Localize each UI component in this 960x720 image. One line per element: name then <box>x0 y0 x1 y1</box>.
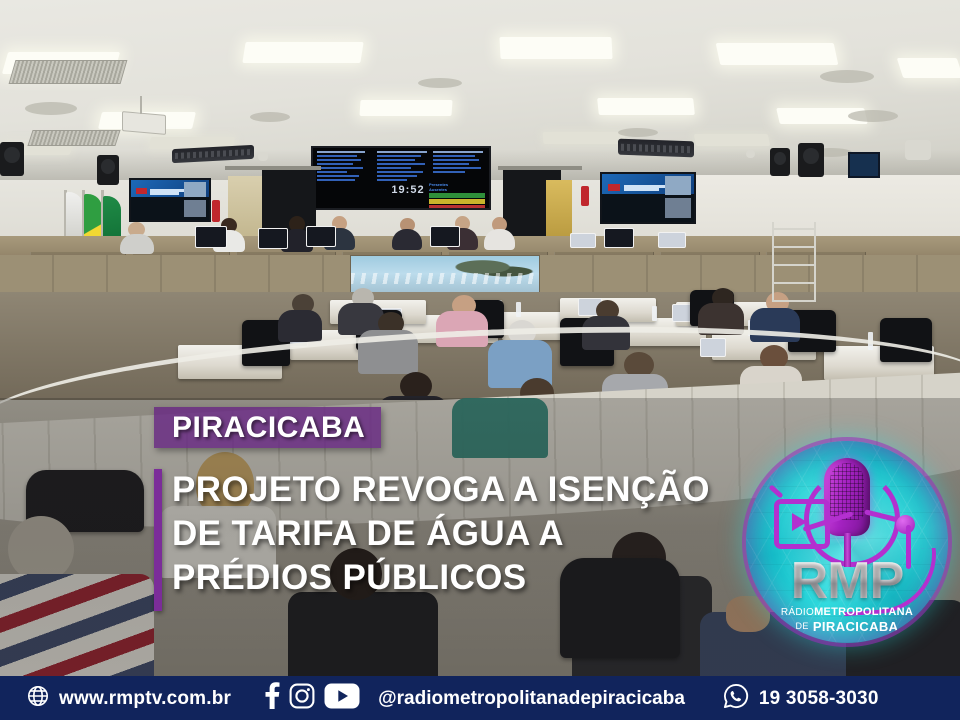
social-icons-group: @radiometropolitanadepiracicaba <box>265 682 685 714</box>
person-body <box>392 229 422 250</box>
desk-monitor <box>195 226 227 248</box>
globe-icon <box>26 684 50 712</box>
door-rail <box>225 166 321 170</box>
security-camera <box>905 140 931 160</box>
whatsapp-icon <box>723 683 749 713</box>
youtube-icon[interactable] <box>324 683 360 714</box>
news-card: 19:52 Presentes Ausentes <box>0 0 960 720</box>
logo-subtitle-1-small: RÁDIO <box>781 607 814 618</box>
ceiling-light <box>597 98 695 115</box>
ceiling-vent <box>820 70 874 83</box>
logo-subtitle-2: DE PIRACICABA <box>746 620 948 633</box>
desk-monitor <box>306 226 336 247</box>
tv-icon <box>774 499 830 549</box>
ceiling-light <box>499 37 612 59</box>
desk-tablet <box>658 232 686 248</box>
ceiling-vent <box>848 110 898 122</box>
desk-monitor <box>258 228 288 249</box>
headline-line-1: PROJETO REVOGA A ISENÇÃO <box>172 468 792 512</box>
security-camera <box>258 152 268 161</box>
wall-monitor <box>848 152 880 178</box>
instagram-icon[interactable] <box>289 683 315 714</box>
led-vote-board: 19:52 Presentes Ausentes <box>311 146 491 210</box>
speaker <box>0 142 24 176</box>
person-body <box>120 234 154 254</box>
fire-extinguisher <box>581 186 589 206</box>
facebook-icon[interactable] <box>265 682 280 714</box>
air-conditioner <box>618 139 694 158</box>
desk-tablet <box>570 233 596 248</box>
logo-subtitle-2-big: PIRACICABA <box>813 619 899 634</box>
led-tally: Presentes Ausentes <box>429 182 485 210</box>
logo-subtitle-2-small: DE <box>796 621 809 631</box>
door <box>546 180 572 240</box>
wall-tv-right <box>600 172 696 224</box>
kicker-badge: PIRACICABA <box>154 407 381 448</box>
website-url: www.rmptv.com.br <box>59 689 231 708</box>
logo-subtitle-1-big: METROPOLITANA <box>814 606 913 618</box>
social-handle: @radiometropolitanadepiracicaba <box>378 689 685 708</box>
kicker-label: PIRACICABA <box>172 413 365 443</box>
ceiling-light <box>542 132 625 144</box>
phone-number: 19 3058-3030 <box>759 689 879 708</box>
projector-mount <box>140 96 142 114</box>
desk-monitor <box>604 228 634 248</box>
speaker <box>97 155 119 185</box>
projector <box>122 111 166 135</box>
headline-line-3: PRÉDIOS PÚBLICOS <box>172 556 792 600</box>
ceiling-light <box>359 100 452 116</box>
light-grille <box>27 130 120 146</box>
microphone-icon <box>824 458 870 536</box>
wall-tv-left <box>129 178 211 222</box>
logo-wordmark: RMP <box>746 555 948 607</box>
light-grille <box>9 60 128 84</box>
ceiling-light <box>242 42 363 63</box>
rmp-logo: RMP RÁDIOMETROPOLITANA DE PIRACICABA <box>746 441 948 643</box>
fire-extinguisher <box>212 200 220 222</box>
speaker <box>798 143 824 177</box>
website-group[interactable]: www.rmptv.com.br <box>26 684 231 712</box>
ceiling-vent <box>250 112 290 122</box>
headline-accent-bar <box>154 469 162 611</box>
door-rail <box>498 166 582 170</box>
headline: PROJETO REVOGA A ISENÇÃO DE TARIFA DE ÁG… <box>172 468 792 600</box>
speaker <box>770 148 790 176</box>
phone-group[interactable]: 19 3058-3030 <box>723 683 879 713</box>
headline-line-2: DE TARIFA DE ÁGUA A <box>172 512 792 556</box>
water-bottle <box>516 302 521 317</box>
ceiling-light <box>897 58 960 78</box>
scaffold-ladder <box>772 222 816 302</box>
contact-footer: www.rmptv.com.br @rad <box>0 676 960 720</box>
person-body <box>484 229 515 250</box>
person-body <box>278 310 322 342</box>
ceiling-vent <box>618 128 658 137</box>
water-bottle <box>652 306 657 321</box>
ceiling-vent <box>418 78 462 88</box>
ceiling-light <box>716 43 839 65</box>
security-camera <box>746 150 755 158</box>
ceiling-vent <box>25 102 77 115</box>
ceiling-light <box>694 134 771 146</box>
desk-monitor <box>430 226 460 247</box>
logo-subtitle-1: RÁDIOMETROPOLITANA <box>746 607 948 618</box>
